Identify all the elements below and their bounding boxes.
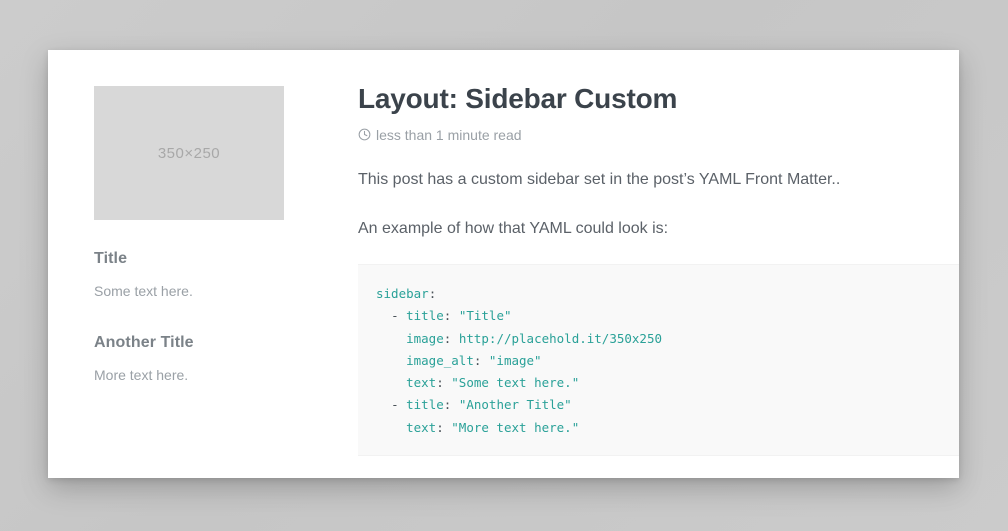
post-paragraph: This post has a custom sidebar set in th… (358, 168, 959, 193)
card-inner: 350×250 Title Some text here. Another Ti… (48, 50, 959, 478)
yaml-code: sidebar: - title: "Title" image: http://… (376, 283, 959, 439)
custom-sidebar: 350×250 Title Some text here. Another Ti… (94, 86, 284, 386)
sidebar-section-text: More text here. (94, 365, 284, 386)
sidebar-section-title: Another Title (94, 334, 284, 352)
post-content: Layout: Sidebar Custom less than 1 minut… (358, 82, 959, 478)
post-card: 350×250 Title Some text here. Another Ti… (48, 50, 959, 478)
page-title: Layout: Sidebar Custom (358, 82, 959, 116)
sidebar-section-1: Title Some text here. (94, 250, 284, 302)
post-meta: less than 1 minute read (358, 127, 959, 143)
clock-icon (358, 128, 371, 141)
placeholder-image-label: 350×250 (158, 145, 220, 162)
sidebar-section-2: Another Title More text here. (94, 334, 284, 386)
sidebar-section-title: Title (94, 250, 284, 268)
sidebar-section-text: Some text here. (94, 281, 284, 302)
sidebar-placeholder-image: 350×250 (94, 86, 284, 220)
post-paragraph: An example of how that YAML could look i… (358, 217, 959, 242)
read-time-label: less than 1 minute read (376, 127, 522, 143)
code-block: sidebar: - title: "Title" image: http://… (358, 264, 959, 456)
